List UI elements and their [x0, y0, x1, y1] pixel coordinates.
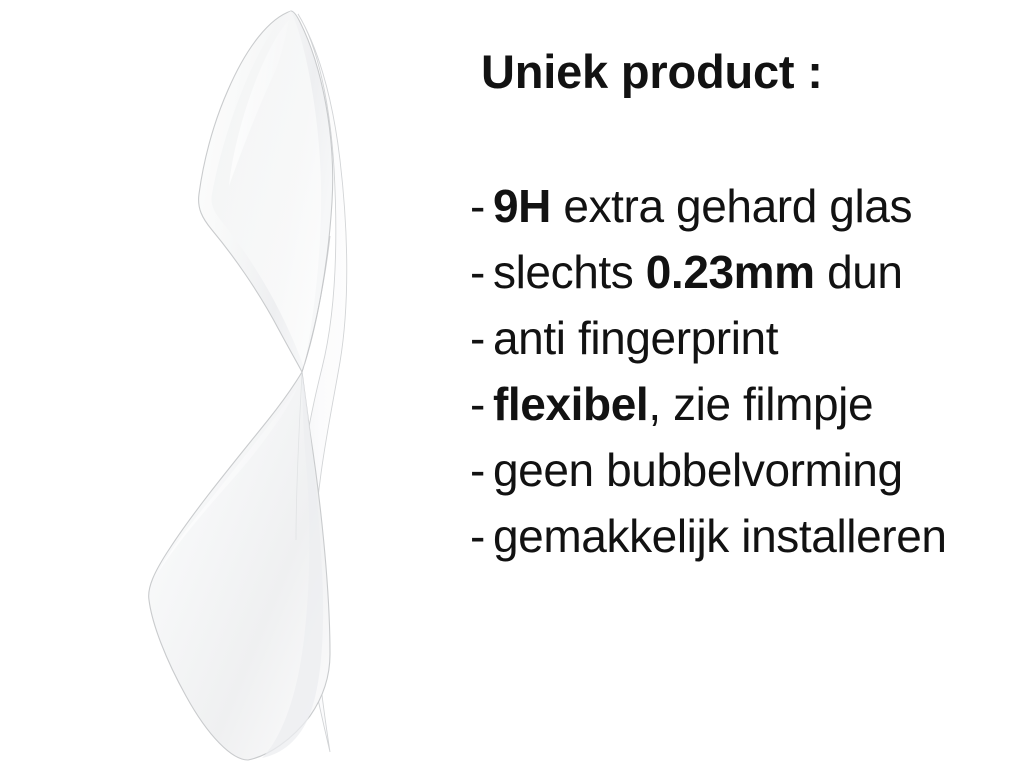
- feature-lead: anti fingerprint: [493, 312, 778, 364]
- bullet-marker: -: [470, 376, 493, 432]
- feature-text-column: Uniek product : -9H extra gehard glas -s…: [470, 0, 1024, 768]
- list-item: -anti fingerprint: [470, 310, 1024, 376]
- feature-rest: 0.23mm: [646, 246, 815, 298]
- feature-rest: extra gehard glas: [551, 180, 912, 232]
- feature-rest: , zie filmpje: [648, 378, 873, 430]
- list-item: -flexibel, zie filmpje: [470, 376, 1024, 442]
- list-item: -9H extra gehard glas: [470, 178, 1024, 244]
- product-promo-canvas: Uniek product : -9H extra gehard glas -s…: [0, 0, 1024, 768]
- feature-lead: flexibel: [493, 378, 648, 430]
- bullet-marker: -: [470, 244, 493, 300]
- tempered-glass-illustration: [0, 0, 460, 768]
- bullet-marker: -: [470, 178, 493, 234]
- bullet-marker: -: [470, 508, 493, 564]
- page-title: Uniek product :: [481, 47, 823, 98]
- list-item: -slechts 0.23mm dun: [470, 244, 1024, 310]
- feature-lead: gemakkelijk installeren: [493, 510, 947, 562]
- list-item: -geen bubbelvorming: [470, 442, 1024, 508]
- feature-lead: slechts: [493, 246, 646, 298]
- bullet-marker: -: [470, 310, 493, 366]
- feature-list: -9H extra gehard glas -slechts 0.23mm du…: [470, 178, 1024, 574]
- feature-tail: dun: [815, 246, 903, 298]
- list-item: -gemakkelijk installeren: [470, 508, 1024, 574]
- feature-lead: 9H: [493, 180, 551, 232]
- feature-lead: geen bubbelvorming: [493, 444, 903, 496]
- bullet-marker: -: [470, 442, 493, 498]
